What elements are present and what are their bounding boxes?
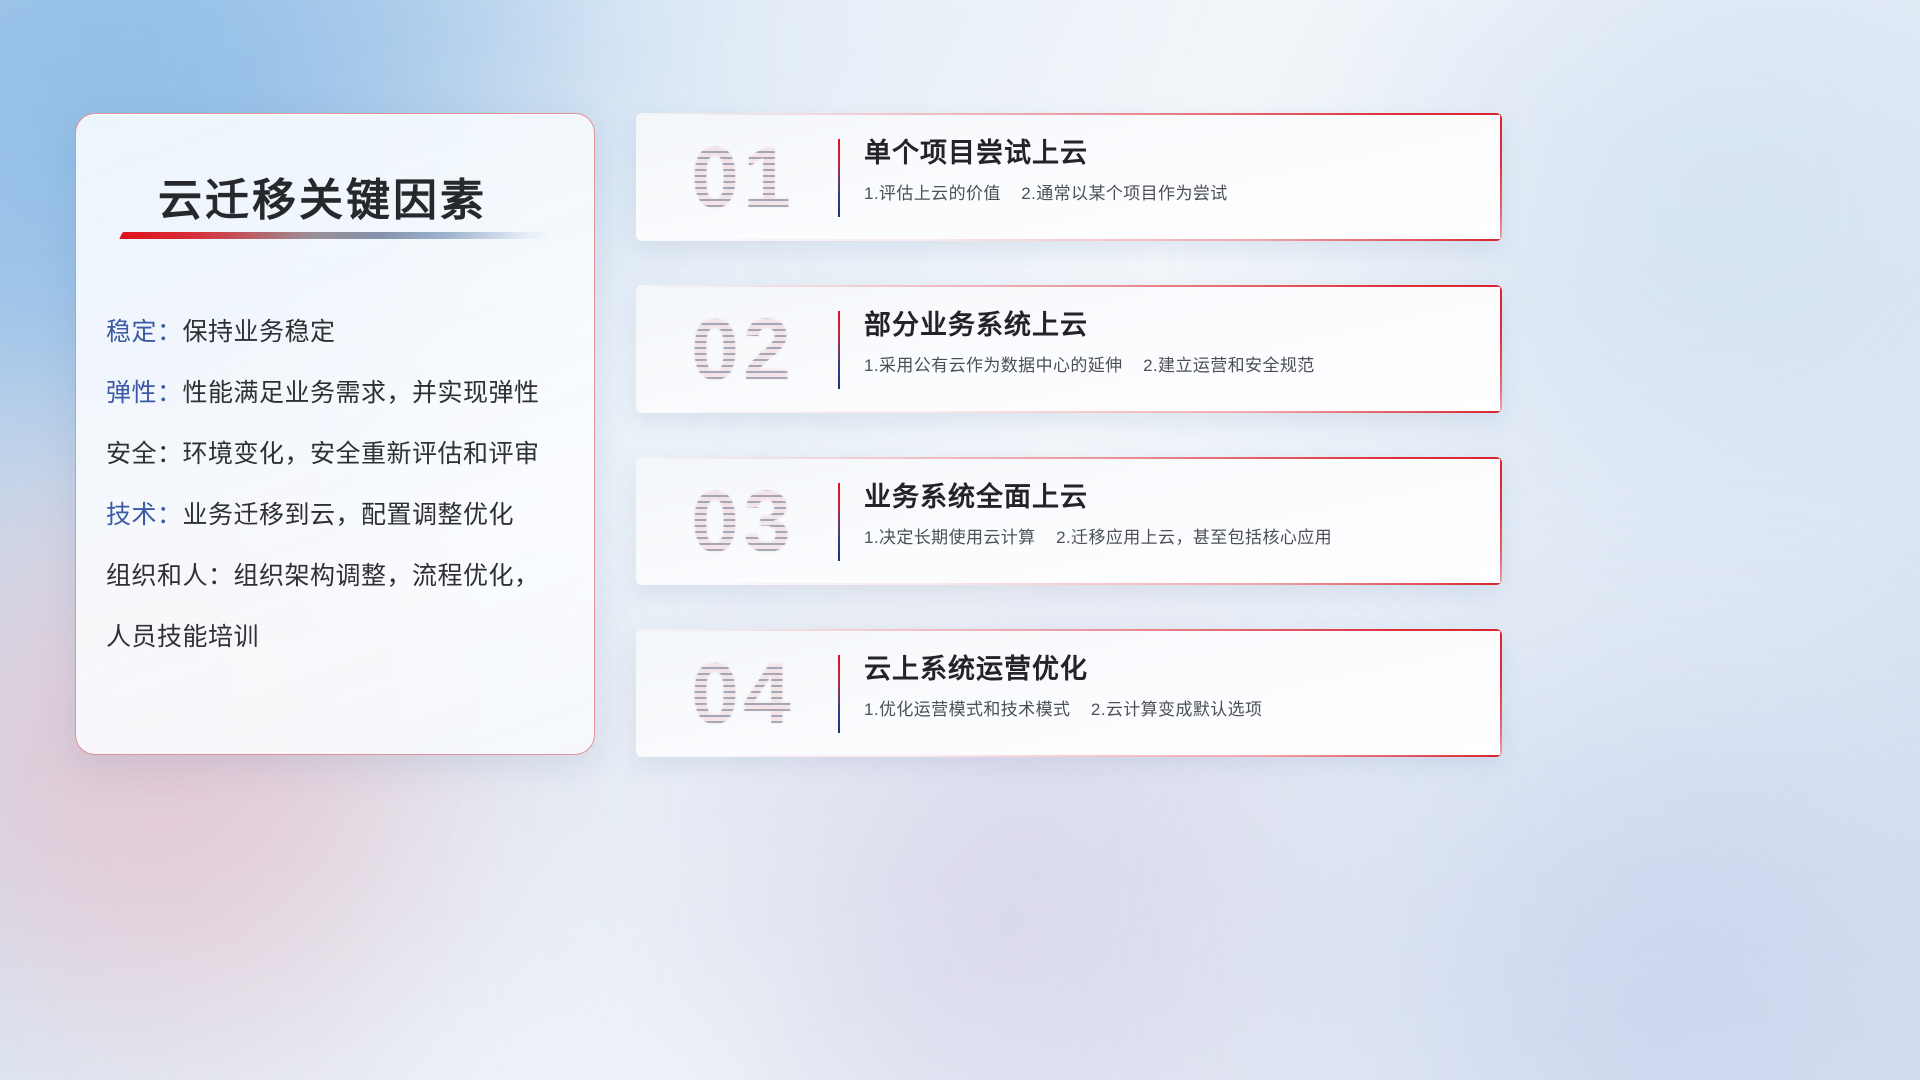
stage-number-watermark: 04	[658, 643, 828, 745]
list-item: 弹性：性能满足业务需求，并实现弹性	[106, 363, 568, 424]
list-item-text: 性能满足业务需求，并实现弹性	[183, 379, 540, 407]
stage-number-watermark: 01	[658, 127, 828, 229]
stage-divider	[838, 655, 840, 733]
stage-divider	[838, 483, 840, 561]
stage-card-bottom-accent	[636, 755, 1502, 757]
title-underline-rule	[119, 232, 553, 239]
panel-title: 云迁移关键因素	[158, 164, 487, 228]
stage-number-watermark: 02	[658, 299, 828, 401]
stage-card-description: 1.决定长期使用云计算 2.迁移应用上云，甚至包括核心应用	[864, 525, 1472, 551]
stage-card-bottom-accent	[636, 239, 1502, 241]
stage-card-description: 1.采用公有云作为数据中心的延伸 2.建立运营和安全规范	[864, 353, 1472, 379]
stage-card-body: 业务系统全面上云 1.决定长期使用云计算 2.迁移应用上云，甚至包括核心应用	[864, 477, 1472, 551]
stage-card-body: 部分业务系统上云 1.采用公有云作为数据中心的延伸 2.建立运营和安全规范	[864, 305, 1472, 379]
list-item-label: 稳定：	[106, 318, 183, 346]
list-item: 组织和人：组织架构调整，流程优化，	[106, 546, 568, 607]
list-item-label: 组织和人：	[106, 562, 234, 590]
stage-card[interactable]: 01 01 单个项目尝试上云 1.评估上云的价值 2.通常以某个项目作为尝试	[636, 113, 1502, 241]
list-item-text: 业务迁移到云，配置调整优化	[183, 501, 515, 529]
list-item-text: 人员技能培训	[106, 623, 259, 651]
stage-card-title: 单个项目尝试上云	[864, 133, 1472, 173]
list-item-label: 弹性：	[106, 379, 183, 407]
stage-card[interactable]: 04 04 云上系统运营优化 1.优化运营模式和技术模式 2.云计算变成默认选项	[636, 629, 1502, 757]
stage-card-bottom-accent	[636, 411, 1502, 413]
list-item-text: 环境变化，安全重新评估和评审	[183, 440, 540, 468]
list-item-text: 保持业务稳定	[183, 318, 336, 346]
stage-card-body: 云上系统运营优化 1.优化运营模式和技术模式 2.云计算变成默认选项	[864, 649, 1472, 723]
list-item-label: 技术：	[106, 501, 183, 529]
stage-card-description: 1.评估上云的价值 2.通常以某个项目作为尝试	[864, 181, 1472, 207]
key-factors-list: 稳定：保持业务稳定 弹性：性能满足业务需求，并实现弹性 安全：环境变化，安全重新…	[106, 302, 568, 668]
list-item: 稳定：保持业务稳定	[106, 302, 568, 363]
stage-divider	[838, 139, 840, 217]
list-item: 安全：环境变化，安全重新评估和评审	[106, 424, 568, 485]
stage-card-bottom-accent	[636, 583, 1502, 585]
stage-card-title: 部分业务系统上云	[864, 305, 1472, 345]
stage-card-body: 单个项目尝试上云 1.评估上云的价值 2.通常以某个项目作为尝试	[864, 133, 1472, 207]
stage-divider	[838, 311, 840, 389]
stage-card-title: 业务系统全面上云	[864, 477, 1472, 517]
list-item-label: 安全：	[106, 440, 183, 468]
stage-cards-list: 01 01 单个项目尝试上云 1.评估上云的价值 2.通常以某个项目作为尝试 0…	[636, 113, 1502, 801]
stage-card[interactable]: 02 02 部分业务系统上云 1.采用公有云作为数据中心的延伸 2.建立运营和安…	[636, 285, 1502, 413]
slide-stage: 云迁移关键因素 稳定：保持业务稳定 弹性：性能满足业务需求，并实现弹性 安全：环…	[0, 0, 1920, 1080]
stage-card[interactable]: 03 03 业务系统全面上云 1.决定长期使用云计算 2.迁移应用上云，甚至包括…	[636, 457, 1502, 585]
stage-number-watermark: 03	[658, 471, 828, 573]
list-item-text: 组织架构调整，流程优化，	[234, 562, 540, 590]
stage-card-description: 1.优化运营模式和技术模式 2.云计算变成默认选项	[864, 697, 1472, 723]
stage-card-title: 云上系统运营优化	[864, 649, 1472, 689]
list-item: 技术：业务迁移到云，配置调整优化	[106, 485, 568, 546]
list-item-continuation: 人员技能培训	[106, 607, 568, 668]
key-factors-panel: 云迁移关键因素 稳定：保持业务稳定 弹性：性能满足业务需求，并实现弹性 安全：环…	[75, 113, 595, 755]
